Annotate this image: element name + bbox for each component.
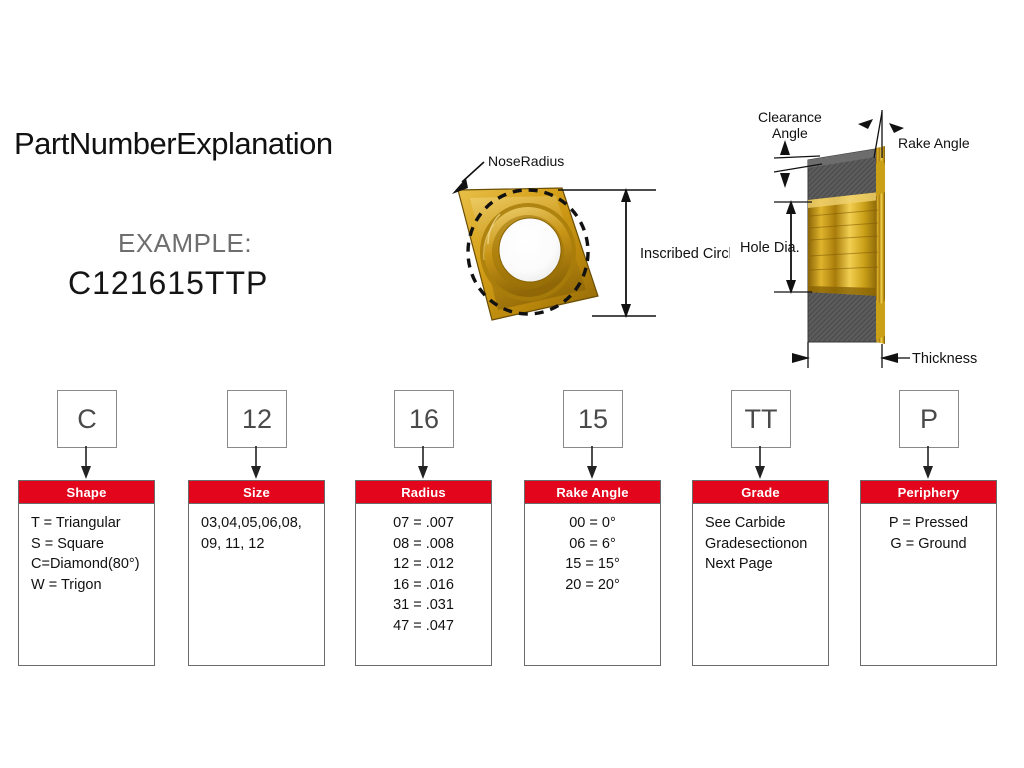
column-line: 31 = .031 [364,595,483,616]
example-label: EXAMPLE: [118,228,252,259]
column-line: 09, 11, 12 [197,534,316,555]
column-line: G = Ground [869,534,988,555]
insert-cross-section: Clearance Angle Rake Angle Hole Dia. Thi… [730,100,1024,380]
column-header: Size [188,480,325,503]
column-body: P = PressedG = Ground [860,503,997,666]
column-line: T = Triangular [27,513,146,534]
connector-arrow-down-icon [417,446,429,480]
column-line: P = Pressed [869,513,988,534]
thickness-label: Thickness [912,351,977,367]
hole-dia-label: Hole Dia. [740,240,800,256]
column-header: Shape [18,480,155,503]
column-body: 03,04,05,06,08,09, 11, 12 [188,503,325,666]
column-radius: Radius07 = .00708 = .00812 = .01216 = .0… [355,480,492,666]
connector-arrow-down-icon [586,446,598,480]
column-line: S = Square [27,534,146,555]
code-box-periphery[interactable]: P [899,390,959,448]
column-periphery: PeripheryP = PressedG = Ground [860,480,997,666]
code-box-shape[interactable]: C [57,390,117,448]
inscribed-circle-label: Inscribed Circle [640,246,730,262]
column-line: 47 = .047 [364,616,483,637]
clearance-angle-label-line1: Clearance [758,109,822,125]
clearance-angle-label-line2: Angle [772,125,808,141]
rake-angle-label: Rake Angle [898,135,970,151]
column-line: Gradesectionon [701,534,820,555]
column-line: 16 = .016 [364,575,483,596]
column-line: 00 = 0° [533,513,652,534]
column-line: 20 = 20° [533,575,652,596]
column-body: 00 = 0°06 = 6°15 = 15°20 = 20° [524,503,661,666]
nose-radius-label: NoseRadius [488,153,564,169]
connector-arrow-down-icon [80,446,92,480]
column-line: 06 = 6° [533,534,652,555]
column-line: Next Page [701,554,820,575]
column-size: Size03,04,05,06,08,09, 11, 12 [188,480,325,666]
page-title: PartNumberExplanation [14,126,333,162]
code-box-radius[interactable]: 16 [394,390,454,448]
diamond-insert-top-view: NoseRadius Inscribed Circle [440,148,730,348]
connector-arrow-down-icon [250,446,262,480]
column-line: See Carbide [701,513,820,534]
column-line: 08 = .008 [364,534,483,555]
code-box-rake-angle[interactable]: 15 [563,390,623,448]
column-grade: GradeSee CarbideGradesectiononNext Page [692,480,829,666]
column-header: Radius [355,480,492,503]
column-header: Rake Angle [524,480,661,503]
column-header: Grade [692,480,829,503]
column-shape: ShapeT = TriangularS = SquareC=Diamond(8… [18,480,155,666]
column-header: Periphery [860,480,997,503]
column-line: C=Diamond(80°) [27,554,146,575]
connector-arrow-down-icon [754,446,766,480]
column-line: 12 = .012 [364,554,483,575]
column-body: See CarbideGradesectiononNext Page [692,503,829,666]
connector-arrow-down-icon [922,446,934,480]
column-line: W = Trigon [27,575,146,596]
diagram-page: PartNumberExplanation EXAMPLE: C121615TT… [0,0,1024,768]
code-box-size[interactable]: 12 [227,390,287,448]
column-rake-angle: Rake Angle00 = 0°06 = 6°15 = 15°20 = 20° [524,480,661,666]
column-body: 07 = .00708 = .00812 = .01216 = .01631 =… [355,503,492,666]
code-box-grade[interactable]: TT [731,390,791,448]
example-part-number: C121615TTP [68,265,268,302]
column-body: T = TriangularS = SquareC=Diamond(80°)W … [18,503,155,666]
column-line: 03,04,05,06,08, [197,513,316,534]
column-line: 07 = .007 [364,513,483,534]
column-line: 15 = 15° [533,554,652,575]
